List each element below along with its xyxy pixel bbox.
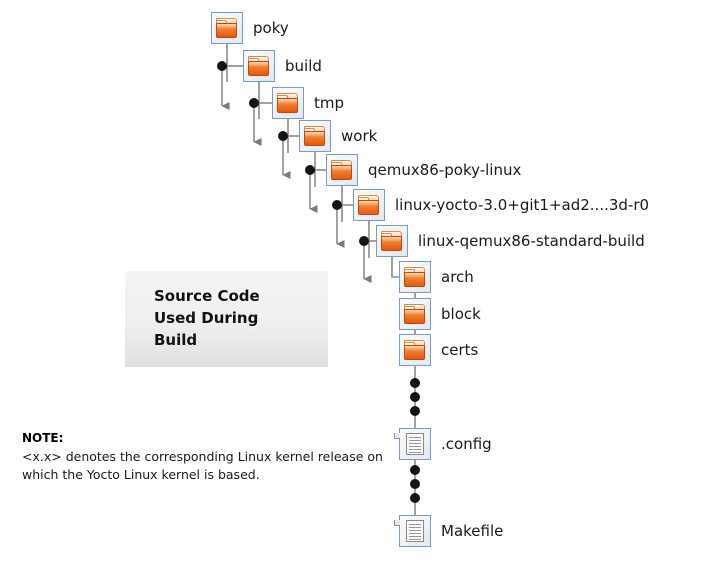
folder-icon <box>353 189 385 221</box>
tree-node-label: linux-yocto-3.0+git1+ad2....3d-r0 <box>395 198 649 213</box>
tree-node-label: arch <box>441 270 474 285</box>
tree-node-makefile[interactable]: Makefile <box>399 515 503 547</box>
folder-icon <box>326 154 358 186</box>
callout-line-3: Build <box>154 330 260 352</box>
tree-node-certs[interactable]: certs <box>399 334 478 366</box>
tree-node-label: certs <box>441 343 478 358</box>
folder-icon <box>243 50 275 82</box>
tree-node-build[interactable]: build <box>243 50 322 82</box>
file-icon <box>399 428 431 460</box>
tree-node-work[interactable]: work <box>299 120 377 152</box>
tree-node-label: tmp <box>314 96 344 111</box>
file-icon <box>399 515 431 547</box>
note-title: NOTE: <box>22 430 392 447</box>
tree-node-poky[interactable]: poky <box>211 12 289 44</box>
tree-node-linux-qemux86-standard-build[interactable]: linux-qemux86-standard-build <box>376 225 645 257</box>
tree-node-label: qemux86-poky-linux <box>368 163 521 178</box>
tree-node-arch[interactable]: arch <box>399 261 474 293</box>
folder-icon <box>376 225 408 257</box>
tree-node-label: linux-qemux86-standard-build <box>418 234 645 249</box>
note-line-1: <x.x> denotes the corresponding Linux ke… <box>22 448 392 466</box>
callout-line-1: Source Code <box>154 286 260 308</box>
folder-icon <box>299 120 331 152</box>
tree-node-label: Makefile <box>441 524 503 539</box>
tree-node-label: block <box>441 307 481 322</box>
tree-node-linux-yocto[interactable]: linux-yocto-3.0+git1+ad2....3d-r0 <box>353 189 649 221</box>
folder-icon <box>399 334 431 366</box>
callout-text: Source Code Used During Build <box>154 286 260 351</box>
tree-node-tmp[interactable]: tmp <box>272 87 344 119</box>
tree-node-label: .config <box>441 437 492 452</box>
folder-icon <box>399 261 431 293</box>
tree-node-config[interactable]: .config <box>399 428 492 460</box>
tree-node-label: build <box>285 59 322 74</box>
connector-lines <box>0 0 705 581</box>
source-code-callout-box: Source Code Used During Build <box>125 271 328 367</box>
callout-line-2: Used During <box>154 308 260 330</box>
tree-node-label: work <box>341 129 377 144</box>
note-block: NOTE: <x.x> denotes the corresponding Li… <box>22 430 392 484</box>
note-line-2: which the Yocto Linux kernel is based. <box>22 466 392 484</box>
tree-node-block[interactable]: block <box>399 298 481 330</box>
tree-node-qemux86-poky-linux[interactable]: qemux86-poky-linux <box>326 154 521 186</box>
folder-icon <box>272 87 304 119</box>
folder-icon <box>399 298 431 330</box>
tree-node-label: poky <box>253 21 289 36</box>
diagram-canvas: poky build tmp work qemux86-poky-linux l… <box>0 0 705 581</box>
folder-icon <box>211 12 243 44</box>
